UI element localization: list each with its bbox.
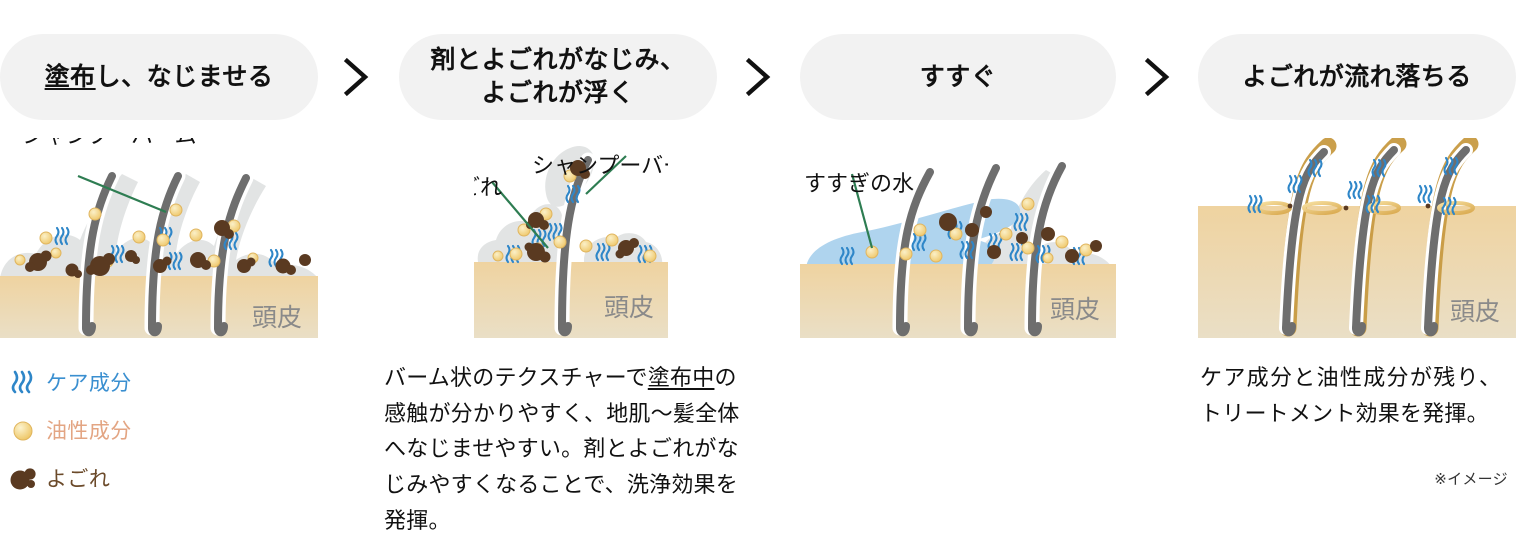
callout-label-rinse-water: すすぎの水 <box>804 166 914 198</box>
caption-2-underlined: 塗布中 <box>648 365 715 390</box>
step-flow: 塗布し、なじませる 剤とよごれがなじみ、 よごれが浮く すすぐ よごれが流れ落ち… <box>0 0 1516 130</box>
step-pill-2-text: 剤とよごれがなじみ、 よごれが浮く <box>430 44 685 110</box>
step-pill-1-text: 塗布し、なじませる <box>45 61 274 94</box>
callout-label-shampoo-balm: シャンプーバーム <box>532 148 668 180</box>
step-pill-1: 塗布し、なじませる <box>0 34 318 120</box>
legend-label-care: ケア成分 <box>46 367 132 397</box>
legend-item-dirt: よごれ <box>6 460 236 496</box>
callout-label-dirt: よごれ <box>474 170 502 202</box>
care-waves-icon <box>6 367 40 397</box>
step-pill-4-text: よごれが流れ落ちる <box>1242 61 1472 94</box>
caption-4-line-2: トリートメント効果を発揮。 <box>1200 396 1516 432</box>
chevron-right-icon-2 <box>740 55 774 99</box>
caption-2-post: の感触が分かりやすく、地肌〜髪全体へなじませやすい。剤とよごれがなじみやすくなる… <box>384 365 740 533</box>
illustration-panel-2: 頭皮 よごれ シャンプーバーム <box>474 138 668 338</box>
legend-item-care: ケア成分 <box>6 364 236 400</box>
legend: ケア成分 油性成分 <box>6 364 236 508</box>
callout-label-shampoo-balm: シャンプーバーム <box>22 138 196 150</box>
step-pill-3: すすぐ <box>800 34 1116 120</box>
scalp-label: 頭皮 <box>252 304 302 332</box>
step-pill-3-text: すすぐ <box>920 61 997 94</box>
step-1-underlined: 塗布 <box>45 63 96 91</box>
image-note: ※イメージ <box>1434 468 1508 489</box>
oil-dot-icon <box>6 415 40 445</box>
step-pill-2: 剤とよごれがなじみ、 よごれが浮く <box>399 34 717 120</box>
scalp-label: 頭皮 <box>1050 296 1100 324</box>
infographic-root: 塗布し、なじませる 剤とよごれがなじみ、 よごれが浮く すすぐ よごれが流れ落ち… <box>0 0 1516 540</box>
illustration-panel-3: 頭皮 すすぎの水 <box>800 138 1116 338</box>
dirt-blob-icon <box>6 463 40 493</box>
illustration-panel-1: 頭皮 シャンプーバーム <box>0 138 318 338</box>
legend-item-oil: 油性成分 <box>6 412 236 448</box>
step-2-line-1: 剤とよごれがなじみ、 <box>430 44 685 77</box>
legend-label-dirt: よごれ <box>46 463 110 493</box>
step-2-line-2: よごれが浮く <box>430 77 685 110</box>
caption-2-pre: バーム状のテクスチャーで <box>384 365 648 390</box>
caption-4-line-1: ケア成分と油性成分が残り、 <box>1200 360 1516 396</box>
chevron-right-icon-3 <box>1139 55 1173 99</box>
scalp-label: 頭皮 <box>604 294 654 322</box>
legend-label-oil: 油性成分 <box>46 415 132 445</box>
step-pill-4: よごれが流れ落ちる <box>1198 34 1516 120</box>
caption-panel-2: バーム状のテクスチャーで塗布中の感触が分かりやすく、地肌〜髪全体へなじませやすい… <box>384 360 756 538</box>
chevron-right-icon-1 <box>338 55 372 99</box>
caption-panel-4: ケア成分と油性成分が残り、 トリートメント効果を発揮。 <box>1200 360 1516 431</box>
step-1-rest: し、なじませる <box>96 63 274 91</box>
illustration-panel-4: 頭皮 <box>1198 138 1516 338</box>
scalp-label: 頭皮 <box>1450 298 1500 326</box>
